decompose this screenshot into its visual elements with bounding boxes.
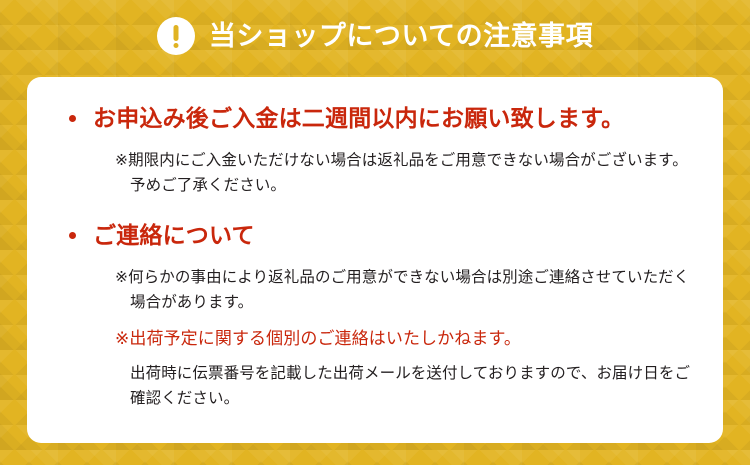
notice-section-contact: ご連絡について: [43, 220, 701, 251]
notice-banner: 当ショップについての注意事項 お申込み後ご入金は二週間以内にお願い致します。 ※…: [0, 0, 750, 465]
section-heading: お申込み後ご入金は二週間以内にお願い致します。: [93, 103, 624, 134]
notice-section-payment: お申込み後ご入金は二週間以内にお願い致します。: [43, 103, 701, 134]
bullet-dot-icon: [69, 232, 76, 239]
notice-card: お申込み後ご入金は二週間以内にお願い致します。 ※期限内にご入金いただけない場合…: [27, 77, 723, 443]
section-note: ※期限内にご入金いただけない場合は返礼品をご用意できない場合がございます。予めご…: [115, 148, 701, 198]
section-note: 出荷時に伝票番号を記載した出荷メールを送付しておりますので、お届け日をご確認くだ…: [115, 361, 701, 411]
exclamation-circle-icon: [157, 17, 195, 55]
section-heading: ご連絡について: [93, 220, 255, 251]
exclamation-bar: [173, 25, 178, 41]
banner-title: 当ショップについての注意事項: [209, 23, 593, 50]
section-note: ※何らかの事由により返礼品のご用意ができない場合は別途ご連絡させていただく場合が…: [115, 265, 701, 315]
exclamation-dot: [173, 43, 178, 48]
bullet-dot-icon: [69, 115, 76, 122]
section-note-highlighted: ※出荷予定に関する個別のご連絡はいたしかねます。: [115, 325, 701, 353]
banner-header: 当ショップについての注意事項: [0, 0, 750, 75]
